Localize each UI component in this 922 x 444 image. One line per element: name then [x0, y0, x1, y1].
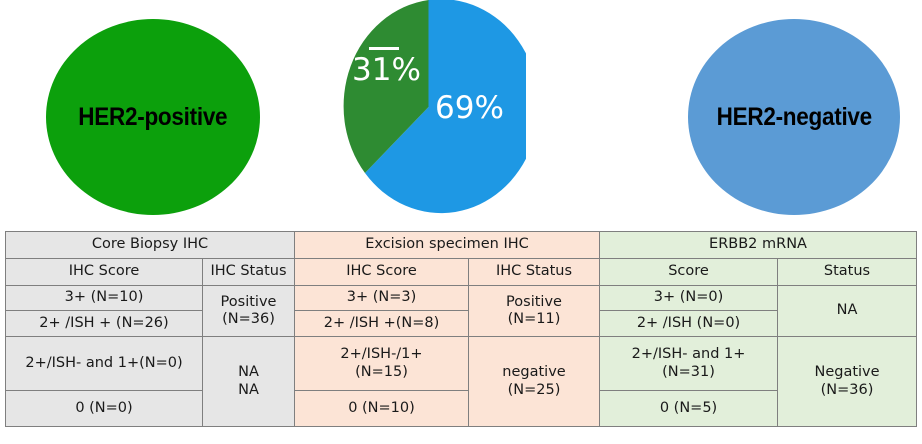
subheader-mrna-status: Status [778, 259, 917, 286]
mrna-score-2plus-line2: (N=31) [602, 364, 775, 381]
excision-score-2plus-ish-neg-1plus: 2+/ISH-/1+ (N=15) [295, 337, 469, 391]
group-header-mrna: ERBB2 mRNA [600, 232, 917, 259]
excision-score-2plus-line2: (N=15) [297, 364, 466, 381]
excision-status-negative: negative (N=25) [469, 337, 600, 427]
core-status-positive-label: Positive [205, 294, 292, 311]
mrna-status-negative: Negative (N=36) [778, 337, 917, 427]
excision-score-2plus-line1: 2+/ISH-/1+ [297, 346, 466, 363]
her2-positive-circle: HER2-positive [46, 19, 260, 215]
excision-status-positive: Positive (N=11) [469, 286, 600, 337]
table-row: 3+ (N=10) Positive (N=36) 3+ (N=3) Posit… [6, 286, 917, 311]
excision-status-negative-label: negative [471, 364, 597, 381]
pie-label-31-text: 31% [352, 52, 421, 88]
core-status-positive: Positive (N=36) [203, 286, 295, 337]
mrna-status-na: NA [778, 286, 917, 337]
subheader-excision-score: IHC Score [295, 259, 469, 286]
figure-row: HER2-positive 31% 69% HER2-negative [0, 0, 922, 225]
pie-label-69-percent: 69% [435, 93, 504, 124]
group-header-excision: Excision specimen IHC [295, 232, 600, 259]
table-row-subheaders: IHC Score IHC Status IHC Score IHC Statu… [6, 259, 917, 286]
subheader-core-score: IHC Score [6, 259, 203, 286]
core-status-na-first: NA [205, 364, 292, 381]
excision-score-2plus-ish-pos: 2+ /ISH +(N=8) [295, 311, 469, 337]
core-status-positive-count: (N=36) [205, 311, 292, 328]
her2-results-table: Core Biopsy IHC Excision specimen IHC ER… [5, 231, 917, 427]
her2-pie-chart: 31% 69% [331, 0, 526, 214]
overbar-artifact [369, 47, 399, 50]
excision-status-positive-label: Positive [471, 294, 597, 311]
core-score-2plus-ish-neg-1plus: 2+/ISH- and 1+(N=0) [6, 337, 203, 391]
mrna-status-negative-count: (N=36) [780, 382, 914, 399]
mrna-score-2plus-line1: 2+/ISH- and 1+ [602, 346, 775, 363]
mrna-score-2plus-ish-neg-1plus: 2+/ISH- and 1+ (N=31) [600, 337, 778, 391]
excision-score-3plus: 3+ (N=3) [295, 286, 469, 311]
excision-status-negative-count: (N=25) [471, 382, 597, 399]
core-score-zero: 0 (N=0) [6, 391, 203, 427]
table-row: 2+/ISH- and 1+(N=0) NA NA 2+/ISH-/1+ (N=… [6, 337, 917, 391]
excision-score-zero: 0 (N=10) [295, 391, 469, 427]
mrna-score-2plus-ish: 2+ /ISH (N=0) [600, 311, 778, 337]
table-row-group-headers: Core Biopsy IHC Excision specimen IHC ER… [6, 232, 917, 259]
core-score-2plus-ish-pos: 2+ /ISH + (N=26) [6, 311, 203, 337]
core-status-na: NA NA [203, 337, 295, 427]
her2-negative-circle: HER2-negative [688, 19, 900, 215]
pie-label-31-percent: 31% [352, 55, 421, 86]
mrna-score-zero: 0 (N=5) [600, 391, 778, 427]
mrna-score-3plus: 3+ (N=0) [600, 286, 778, 311]
subheader-core-status: IHC Status [203, 259, 295, 286]
excision-status-positive-count: (N=11) [471, 311, 597, 328]
mrna-status-negative-label: Negative [780, 364, 914, 381]
core-score-3plus: 3+ (N=10) [6, 286, 203, 311]
her2-negative-label: HER2-negative [716, 103, 871, 132]
subheader-mrna-score: Score [600, 259, 778, 286]
core-status-na-second: NA [205, 382, 292, 399]
subheader-excision-status: IHC Status [469, 259, 600, 286]
pie-label-69-text: 69% [435, 90, 504, 126]
group-header-core-biopsy: Core Biopsy IHC [6, 232, 295, 259]
her2-positive-label: HER2-positive [78, 103, 227, 132]
